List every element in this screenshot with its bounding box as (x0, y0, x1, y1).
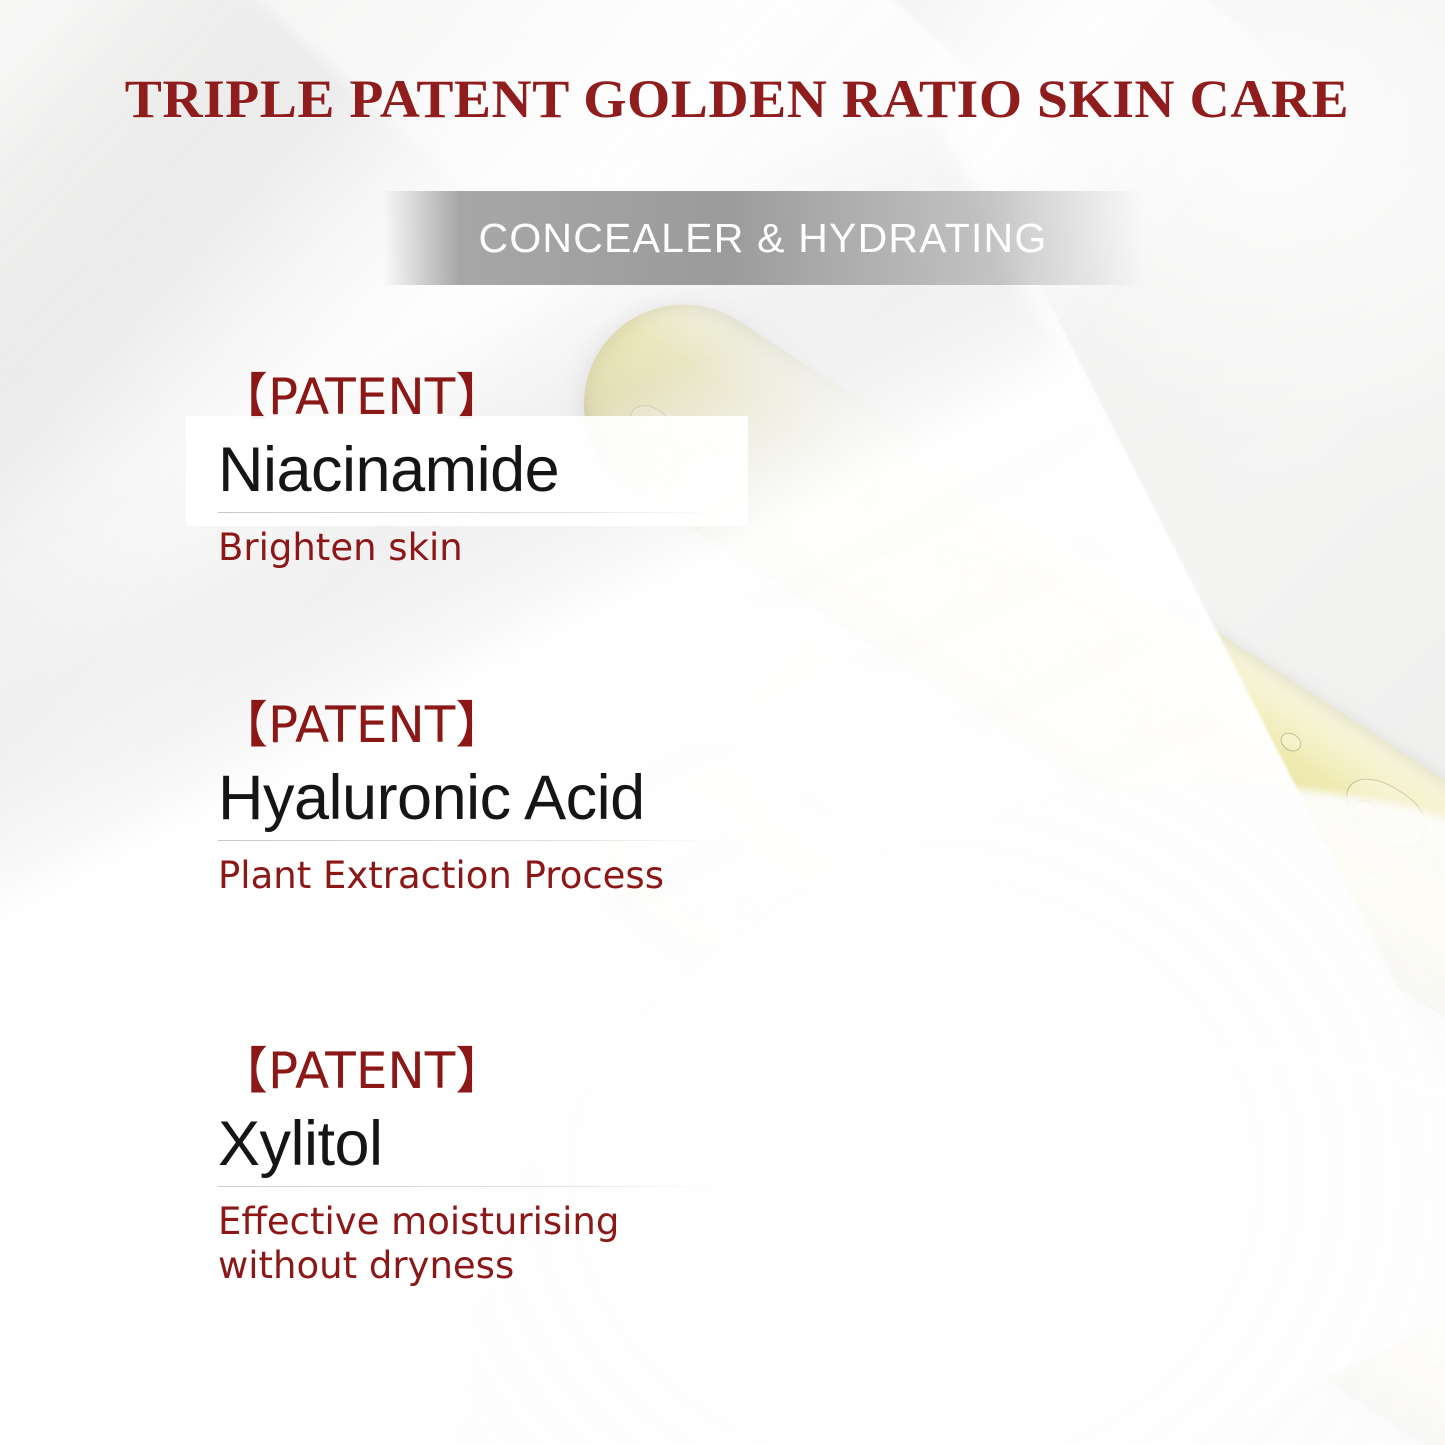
patent-block-niacinamide: 【PATENT】 Niacinamide Brighten skin (218, 372, 716, 570)
patent-block-hyaluronic-acid: 【PATENT】 Hyaluronic Acid Plant Extractio… (218, 700, 716, 898)
subtitle-text: CONCEALER & HYDRATING (383, 191, 1143, 285)
ingredient-benefit: Effective moisturising without dryness (218, 1200, 716, 1287)
divider (218, 840, 716, 841)
ingredient-name-wrap: Niacinamide (218, 438, 716, 502)
ingredient-name-wrap: Hyaluronic Acid (218, 766, 716, 830)
patent-label: 【PATENT】 (218, 372, 716, 422)
ingredient-benefit: Plant Extraction Process (218, 854, 716, 898)
ingredient-name: Xylitol (218, 1112, 716, 1176)
product-infographic: TRIPLE PATENT GOLDEN RATIO SKIN CARE CON… (0, 0, 1445, 1445)
ingredient-benefit: Brighten skin (218, 526, 716, 570)
patent-label: 【PATENT】 (218, 1046, 716, 1096)
ingredient-name: Hyaluronic Acid (218, 766, 716, 830)
page-title: TRIPLE PATENT GOLDEN RATIO SKIN CARE (31, 68, 1442, 130)
ingredient-name-wrap: Xylitol (218, 1112, 716, 1176)
patent-block-xylitol: 【PATENT】 Xylitol Effective moisturising … (218, 1046, 716, 1288)
ingredient-name: Niacinamide (218, 438, 716, 502)
patent-label: 【PATENT】 (218, 700, 716, 750)
divider (218, 512, 716, 513)
divider (218, 1186, 716, 1187)
